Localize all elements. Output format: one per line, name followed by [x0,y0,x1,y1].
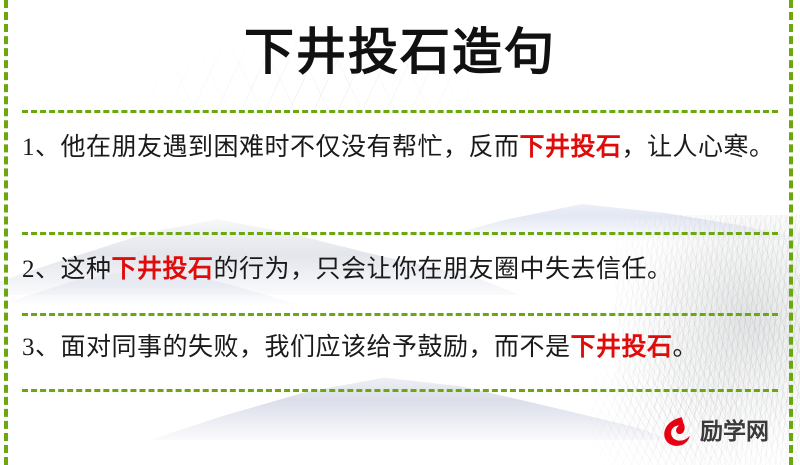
mountain-mist-far [430,180,800,240]
watermark-brand-text: 励学网 [700,420,769,443]
divider-after-sentence-1 [22,232,778,235]
divider-below-title [22,110,778,113]
sentence-2-idiom-highlight: 下井投石 [112,256,214,283]
sentence-2-text-after: 的行为，只会让你在朋友圈中失去信任。 [214,256,673,283]
divider-after-sentence-3 [22,389,778,392]
sentence-2-number: 2、 [22,256,61,283]
sentence-3-number: 3、 [22,334,61,361]
sentence-1-text-before: 他在朋友遇到困难时不仅没有帮忙，反而 [61,134,520,161]
sentence-1-text-after: ，让人心寒。 [622,134,775,161]
idiom-example-card: 下井投石造句 1、他在朋友遇到困难时不仅没有帮忙，反而下井投石，让人心寒。 2、… [0,0,800,465]
sentence-1-idiom-highlight: 下井投石 [520,134,622,161]
swirl-flame-icon [660,414,694,448]
sentence-3-text-after: 。 [673,334,699,361]
border-left-dashed [4,0,8,465]
divider-after-sentence-2 [22,313,778,316]
sentence-2-text-before: 这种 [61,256,112,283]
sentence-3-idiom-highlight: 下井投石 [571,334,673,361]
sentence-1-number: 1、 [22,134,61,161]
example-sentence-3: 3、面对同事的失败，我们应该给予鼓励，而不是下井投石。 [22,328,776,367]
example-sentence-2: 2、这种下井投石的行为，只会让你在朋友圈中失去信任。 [22,250,776,289]
sentence-3-text-before: 面对同事的失败，我们应该给予鼓励，而不是 [61,334,571,361]
page-title: 下井投石造句 [0,22,800,82]
example-sentence-1: 1、他在朋友遇到困难时不仅没有帮忙，反而下井投石，让人心寒。 [22,128,776,167]
border-right-dashed [789,0,793,465]
mountain-ridge-lower [150,360,670,440]
watermark: 励学网 [660,414,769,448]
